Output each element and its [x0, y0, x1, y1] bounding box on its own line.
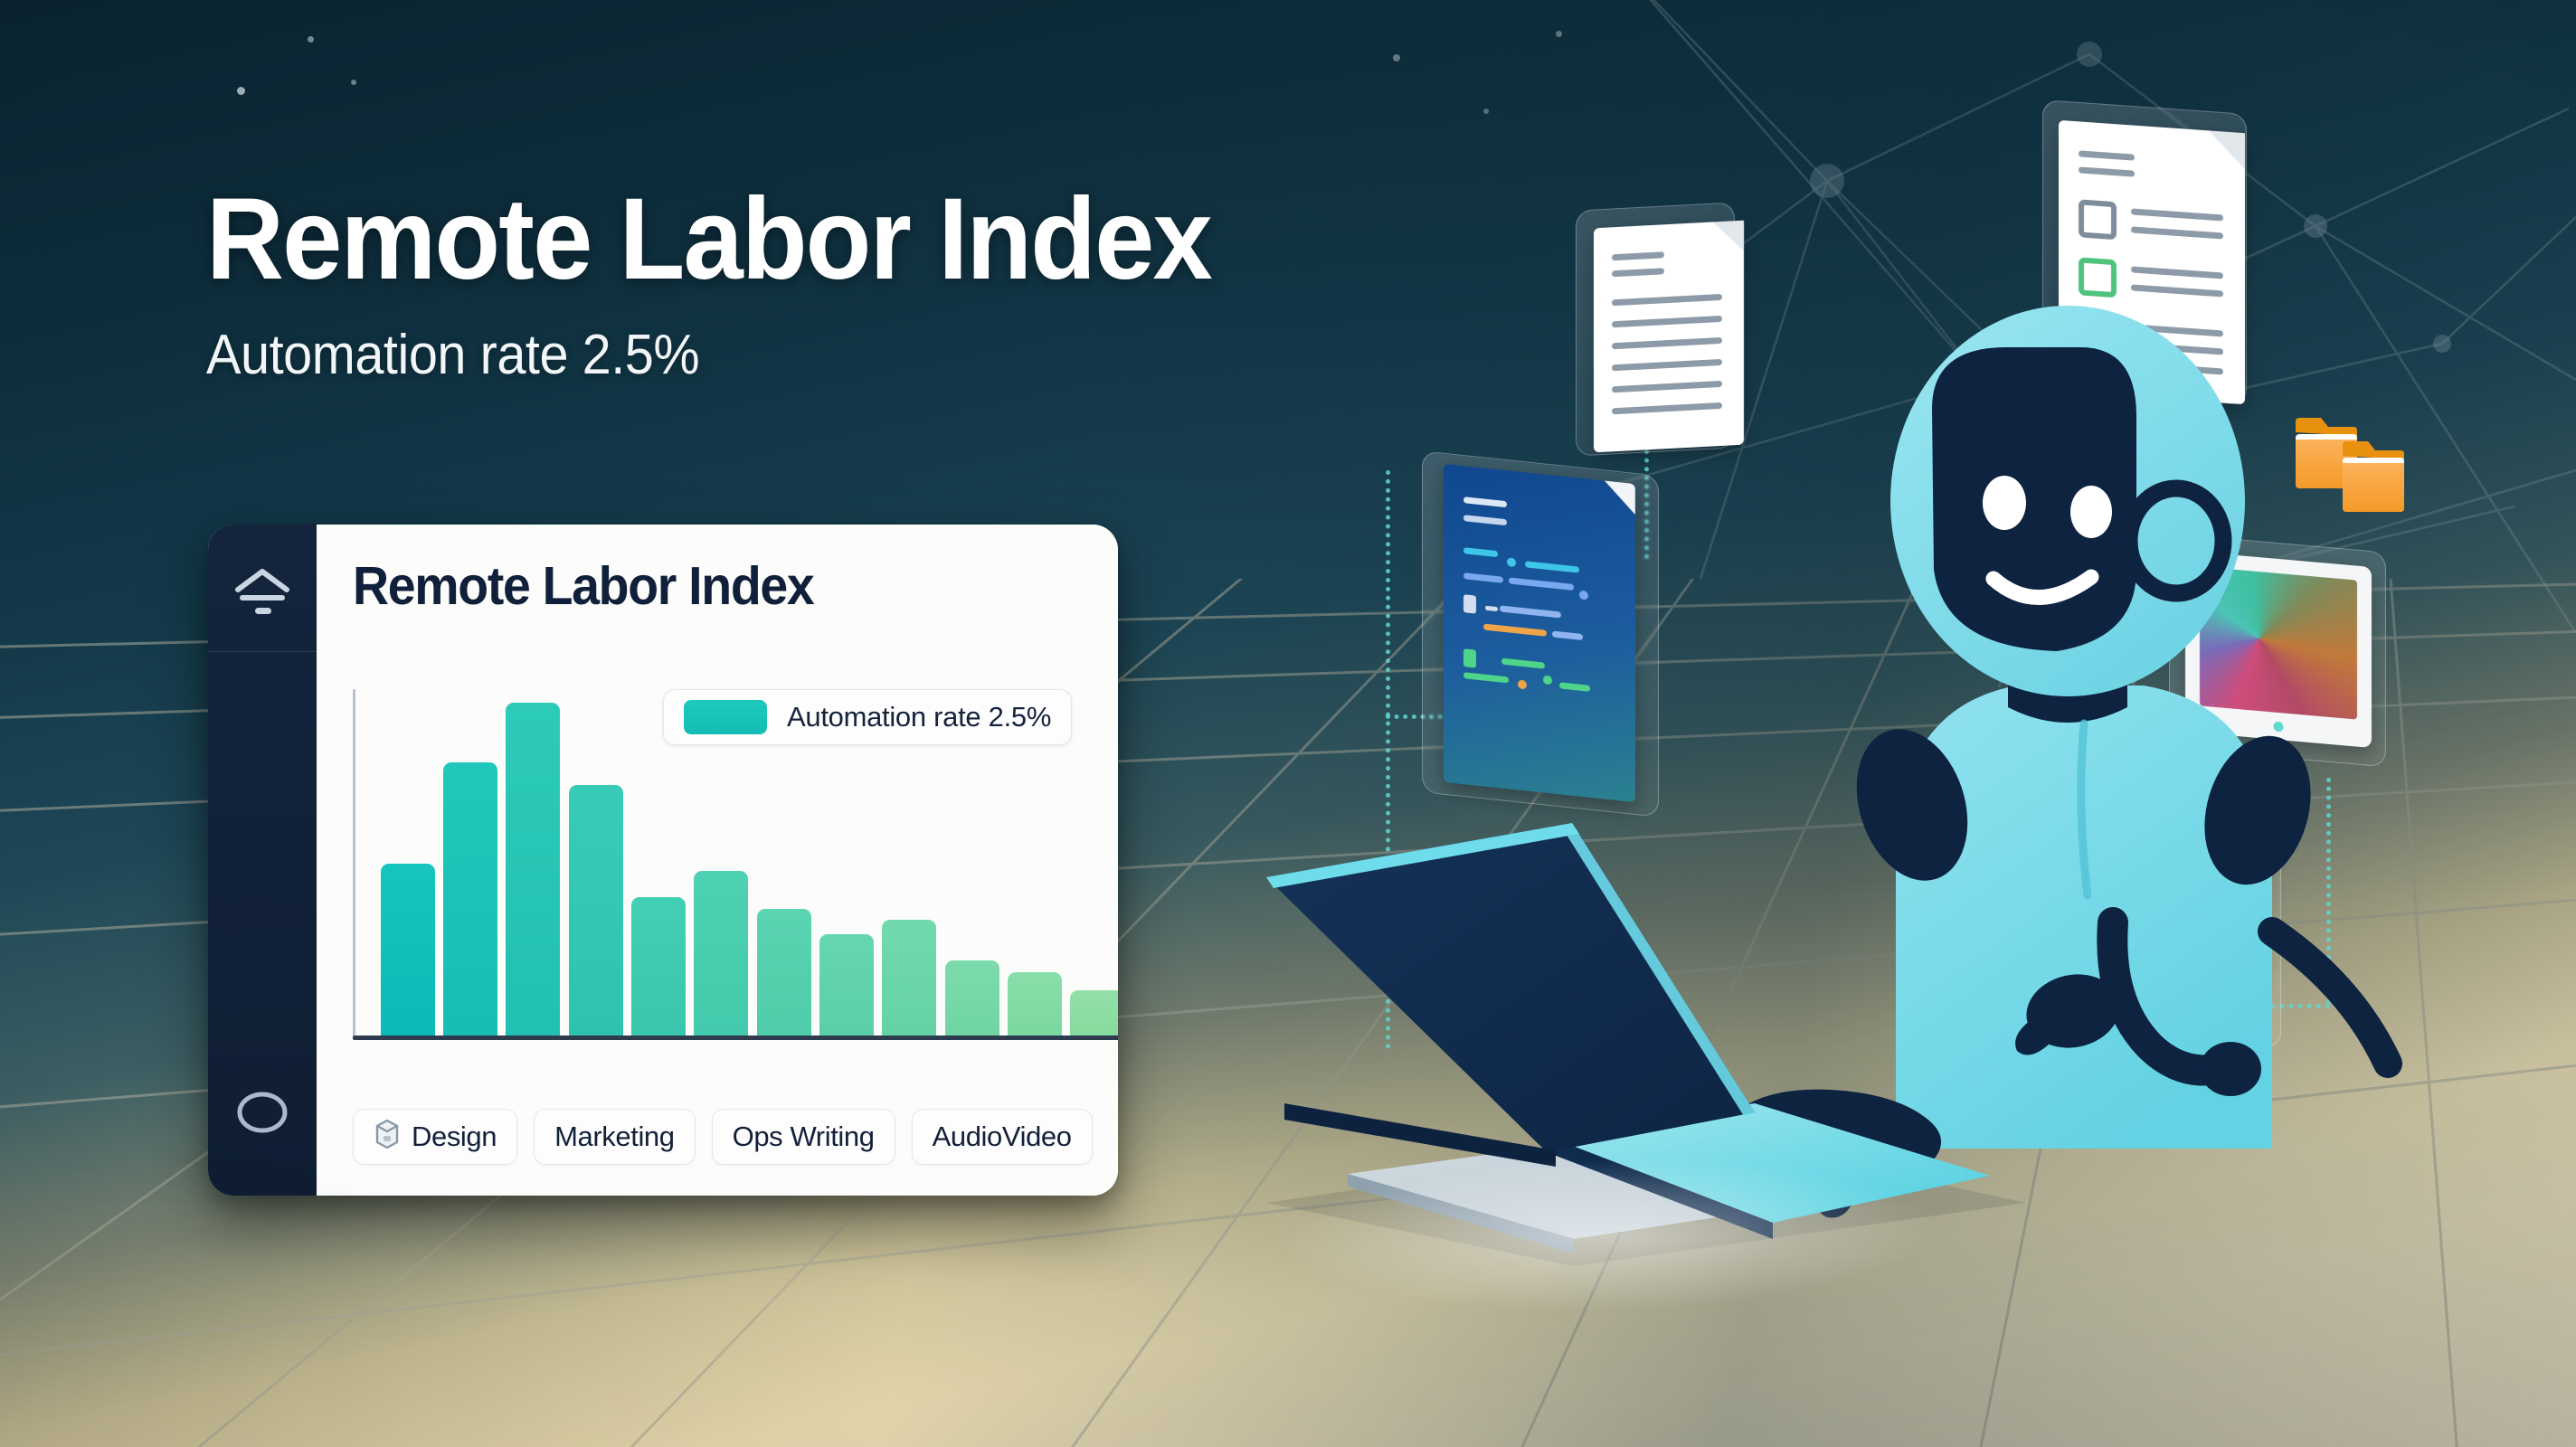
rail-divider	[208, 651, 317, 652]
chart-bar[interactable]	[882, 920, 936, 1036]
chart-bar[interactable]	[569, 785, 623, 1036]
card-body: Remote Labor Index Automation rate 2.5%	[317, 525, 1118, 1196]
chip-label: Ops Writing	[733, 1121, 875, 1153]
bar-slot	[376, 689, 439, 1036]
chip-label: Marketing	[554, 1121, 675, 1153]
layers-collapse-icon[interactable]	[232, 566, 292, 623]
card-sidebar-rail[interactable]	[208, 525, 317, 1196]
chart-y-axis	[353, 689, 355, 1040]
chart-x-axis	[353, 1036, 1118, 1040]
chart-bar[interactable]	[443, 762, 497, 1036]
bar-slot	[564, 689, 627, 1036]
category-chip-list: Design Marketing Ops Writing AudioVideo	[353, 1109, 1093, 1165]
chart-bar[interactable]	[506, 703, 560, 1036]
chart-bar[interactable]	[1008, 972, 1062, 1036]
chart-bar[interactable]	[381, 864, 435, 1036]
chip-ops-writing[interactable]: Ops Writing	[712, 1109, 895, 1165]
chip-marketing[interactable]: Marketing	[534, 1109, 696, 1165]
page-subtitle: Automation rate 2.5%	[206, 323, 1468, 387]
chart-bar[interactable]	[819, 934, 874, 1036]
chart-legend: Automation rate 2.5%	[663, 689, 1072, 745]
chip-label: AudioVideo	[933, 1121, 1072, 1153]
bar-slot	[439, 689, 501, 1036]
chip-design[interactable]: Design	[353, 1109, 517, 1165]
circle-icon[interactable]	[235, 1090, 289, 1140]
poster-canvas: Remote Labor Index Automation rate 2.5% …	[0, 0, 2576, 1447]
package-icon	[374, 1118, 401, 1156]
bar-slot	[1066, 689, 1118, 1036]
chart-bar[interactable]	[694, 871, 748, 1036]
bar-slot	[502, 689, 564, 1036]
chip-audiovideo[interactable]: AudioVideo	[912, 1109, 1093, 1165]
page-title: Remote Labor Index	[206, 181, 1468, 299]
chip-label: Design	[412, 1121, 497, 1153]
headline-block: Remote Labor Index Automation rate 2.5%	[206, 181, 1563, 387]
chart-bar[interactable]	[757, 909, 811, 1036]
legend-swatch	[684, 700, 767, 734]
chart-bar[interactable]	[631, 897, 686, 1036]
chart-bar[interactable]	[945, 960, 999, 1036]
card-title: Remote Labor Index	[353, 555, 1038, 617]
chart-bar[interactable]	[1070, 990, 1118, 1036]
dashboard-card[interactable]: Remote Labor Index Automation rate 2.5%	[208, 525, 1118, 1196]
legend-label: Automation rate 2.5%	[787, 701, 1051, 733]
